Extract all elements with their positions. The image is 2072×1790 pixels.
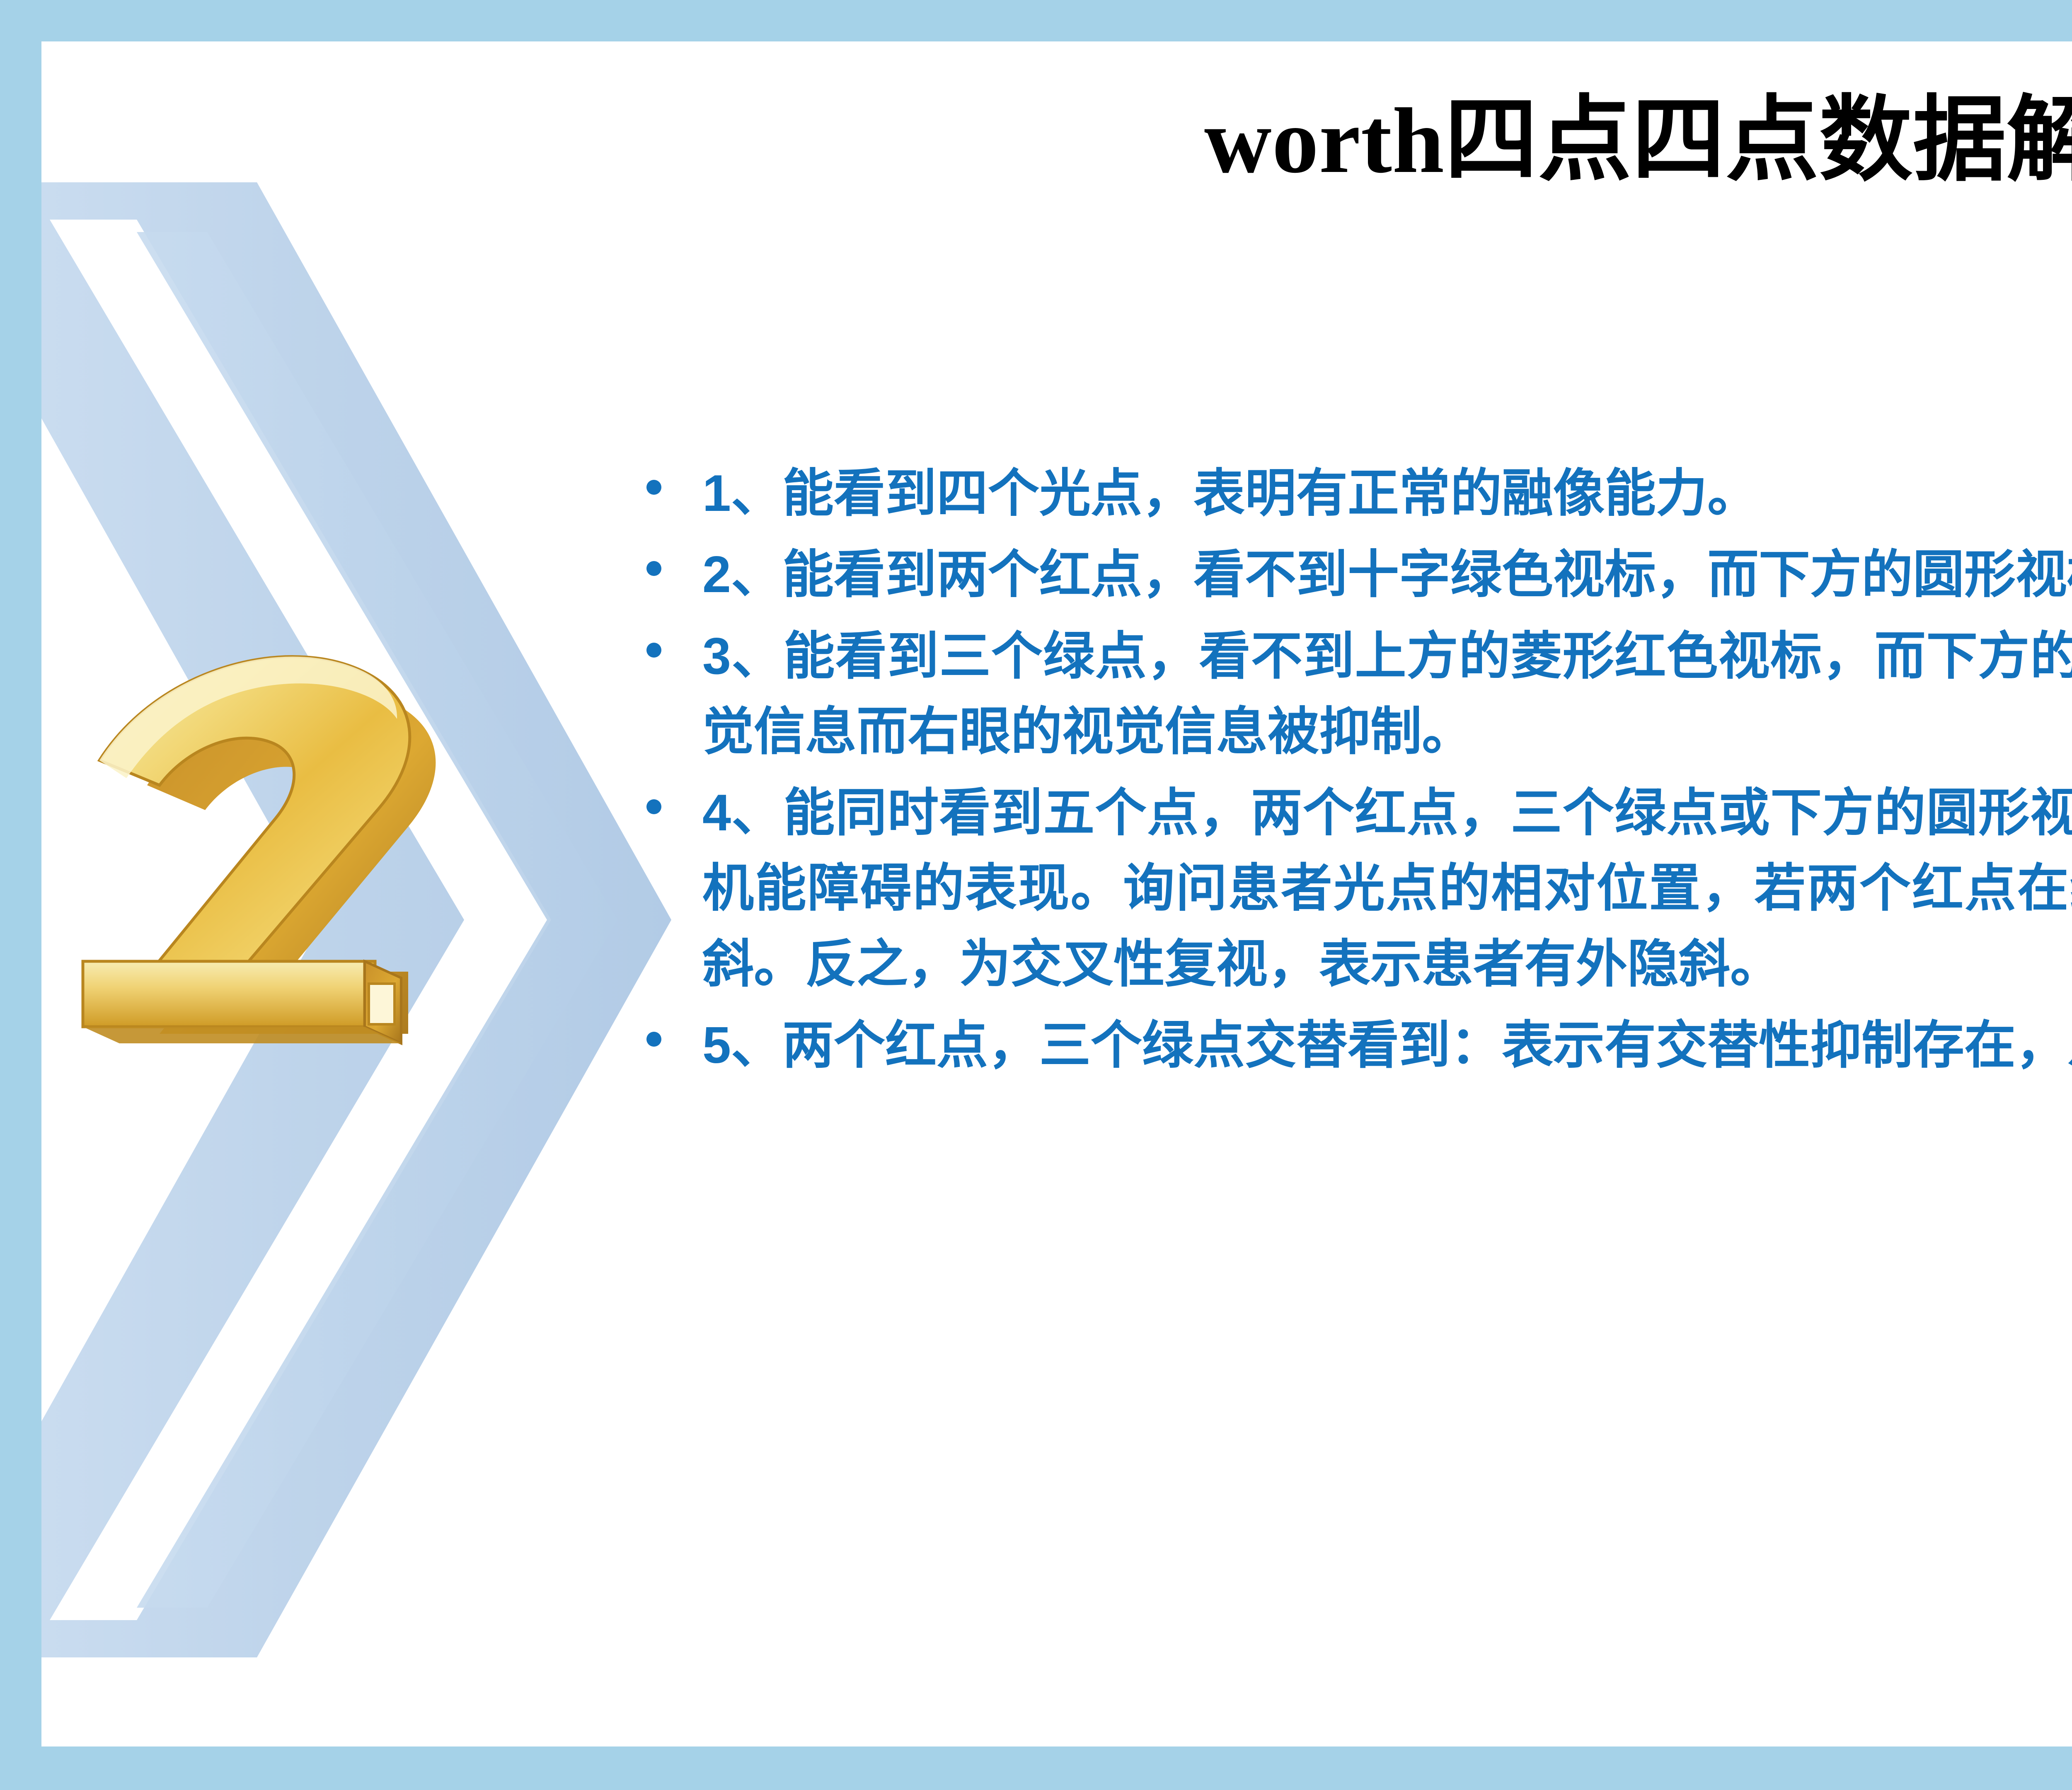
list-item-text: 3、能看到三个绿点，看不到上方的菱形红色视标，而下方的圆形视标偏绿：表明病人仅接… [702,619,2072,770]
list-item[interactable]: 2、能看到两个红点，看不到十字绿色视标，而下方的圆形视标偏红：表明左眼信息被抑制… [622,537,2072,612]
bullet-dot-icon [646,561,661,576]
bullet-dot-icon [646,1032,661,1047]
slide-root: worth四点四点数据解读 1、能看到四个光点，表明有正常的融像能力。 2、能看… [0,0,2072,1790]
chevron-decoration-icon [41,178,671,1662]
bullet-list: 1、能看到四个光点，表明有正常的融像能力。 2、能看到两个红点，看不到十字绿色视… [622,456,2072,1089]
decoration-group [41,178,671,1662]
page-title: worth四点四点数据解读 [332,87,2072,194]
list-item-text: 4、能同时看到五个点，两个红点，三个绿点或下方的圆形视标呈横置的椭圆形，表明有复… [702,775,2072,1002]
list-item[interactable]: 3、能看到三个绿点，看不到上方的菱形红色视标，而下方的圆形视标偏绿：表明病人仅接… [622,619,2072,770]
list-item[interactable]: 1、能看到四个光点，表明有正常的融像能力。 [622,456,2072,531]
bullet-dot-icon [646,643,661,658]
list-item-text: 2、能看到两个红点，看不到十字绿色视标，而下方的圆形视标偏红：表明左眼信息被抑制… [702,537,2072,612]
list-item-text: 1、能看到四个光点，表明有正常的融像能力。 [702,456,2072,531]
golden-numeral-2 [83,657,436,1043]
bullet-dot-icon [646,480,661,495]
bullet-dot-icon [646,799,661,814]
list-item[interactable]: 4、能同时看到五个点，两个红点，三个绿点或下方的圆形视标呈横置的椭圆形，表明有复… [622,775,2072,1002]
list-item[interactable]: 5、两个红点，三个绿点交替看到：表示有交替性抑制存在，患者无融像能力。 [622,1008,2072,1083]
list-item-text: 5、两个红点，三个绿点交替看到：表示有交替性抑制存在，患者无融像能力。 [702,1008,2072,1083]
slide-canvas: worth四点四点数据解读 1、能看到四个光点，表明有正常的融像能力。 2、能看… [41,41,2072,1746]
